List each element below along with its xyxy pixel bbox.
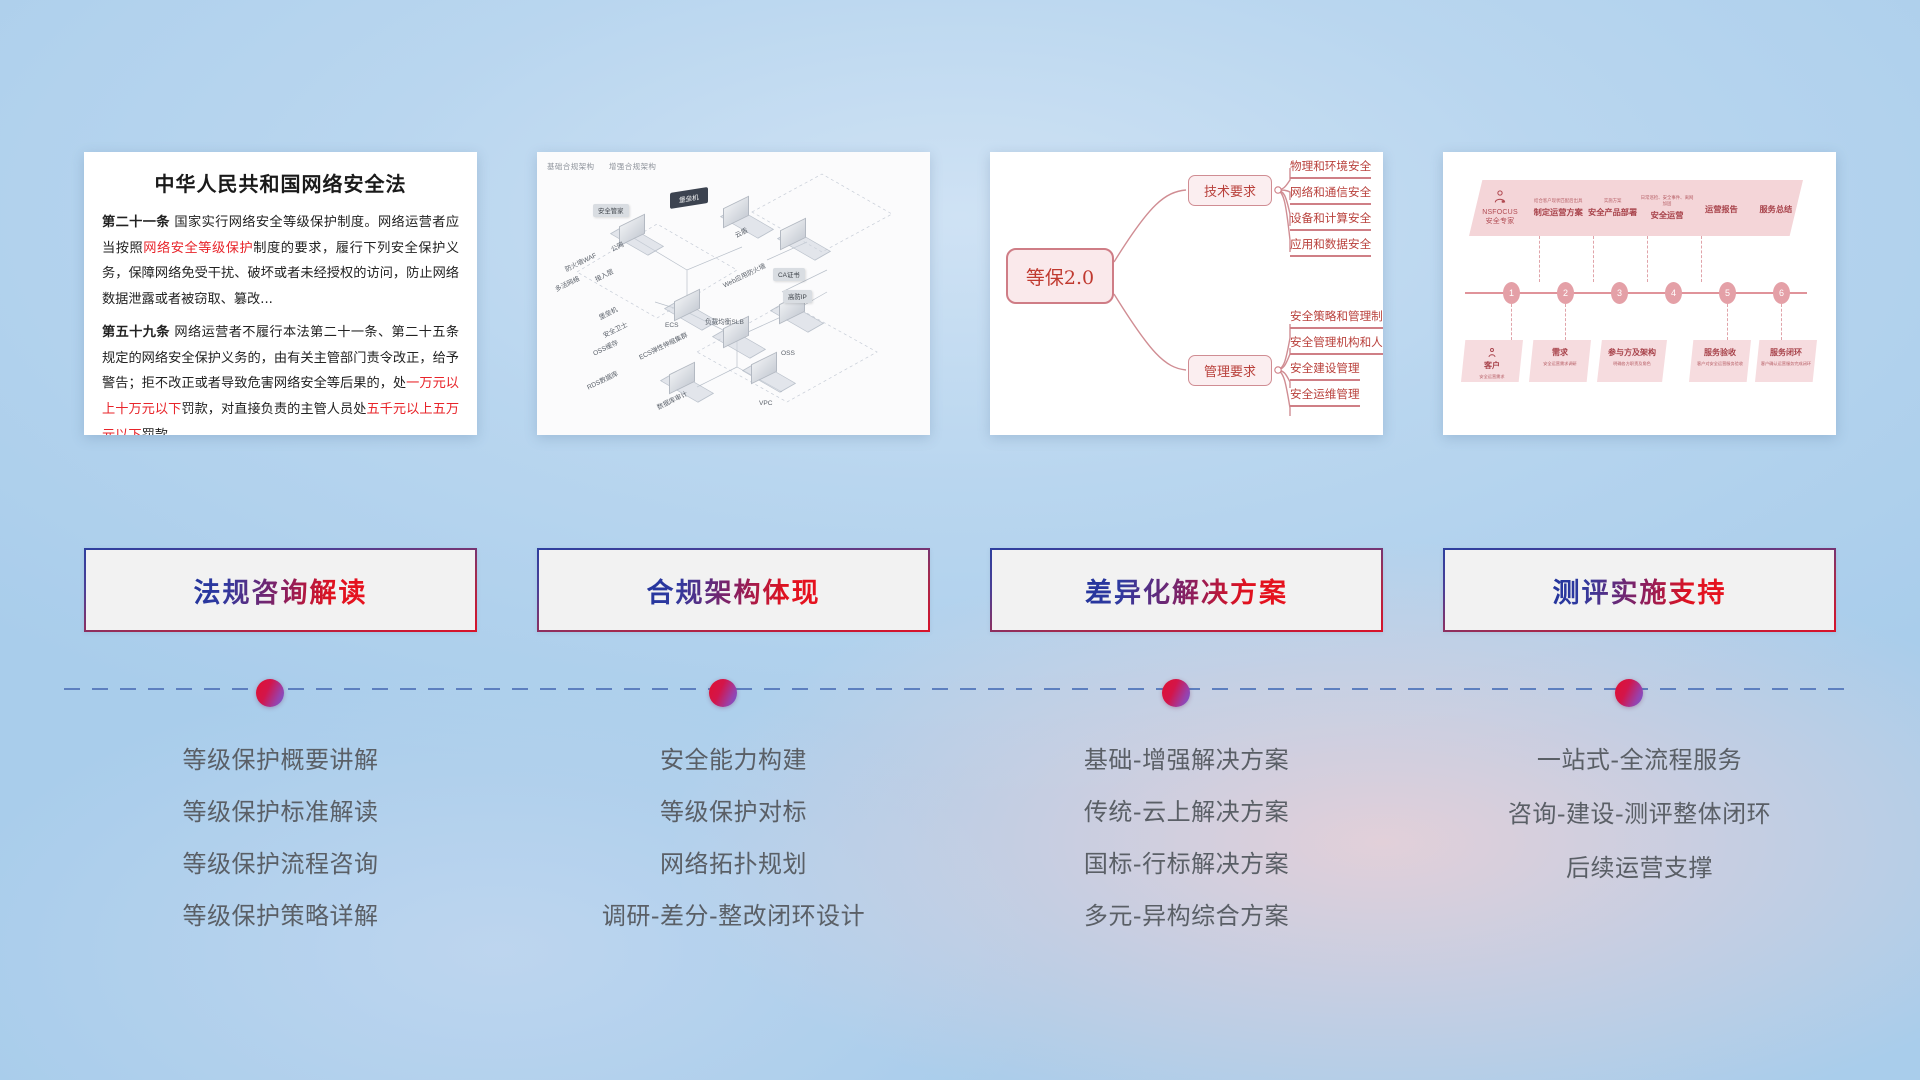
mindmap-leaf-tech-0[interactable]: 物理和环境安全 bbox=[1290, 158, 1371, 179]
mindmap-leaf-mgmt-2[interactable]: 安全建设管理 bbox=[1290, 360, 1360, 381]
law-article-59-post: 罚款。 bbox=[142, 428, 182, 435]
nsfocus-logo: NSFOCUS 安全专家 bbox=[1469, 189, 1531, 226]
expert-person-icon bbox=[1492, 189, 1508, 205]
nsfocus-dash-connector bbox=[1781, 304, 1782, 340]
nsfocus-step-number-4[interactable]: 4 bbox=[1665, 282, 1682, 304]
service-list-3: 一站式-全流程服务 咨询-建设-测评整体闭环 后续运营支撑 bbox=[1443, 740, 1836, 956]
nsfocus-dash-connector bbox=[1511, 304, 1512, 340]
list-item: 等级保护标准解读 bbox=[84, 800, 477, 824]
nsfocus-banner-step-0-sub: 结合客户现状匹配后出具 bbox=[1531, 198, 1585, 204]
mindmap-leaf-tech-2[interactable]: 设备和计算安全 bbox=[1290, 210, 1371, 231]
nsfocus-dash-connector bbox=[1727, 304, 1728, 340]
timeline-dot-0[interactable] bbox=[256, 679, 284, 707]
card-cloud-architecture[interactable]: 基础合规架构 增强合规架构 bbox=[537, 152, 930, 435]
section-header-0-label: 法规咨询解读 bbox=[194, 571, 368, 610]
law-article-59-mid: 罚款，对直接负责的主管人员处 bbox=[181, 402, 366, 417]
law-title: 中华人民共和国网络安全法 bbox=[102, 168, 459, 197]
law-article-21: 第二十一条 国家实行网络安全等级保护制度。网络运营者应当按照网络安全等级保护制度… bbox=[102, 210, 459, 313]
architecture-label-15: OSS bbox=[781, 350, 795, 357]
architecture-label-3: 安全管家 bbox=[593, 204, 629, 217]
mindmap-leaf-mgmt-0[interactable]: 安全策略和管理制度 bbox=[1290, 308, 1383, 329]
mindmap-leaf-mgmt-1[interactable]: 安全管理机构和人员 bbox=[1290, 334, 1383, 355]
list-item: 多元-异构综合方案 bbox=[990, 904, 1383, 928]
list-item: 调研-差分-整改闭环设计 bbox=[537, 904, 930, 928]
law-article-59-label: 第五十九条 bbox=[102, 325, 170, 340]
section-header-3[interactable]: 测评实施支持 bbox=[1443, 548, 1836, 632]
list-item: 基础-增强解决方案 bbox=[990, 748, 1383, 772]
list-item: 网络拓扑规划 bbox=[537, 852, 930, 876]
section-header-2[interactable]: 差异化解决方案 bbox=[990, 548, 1383, 632]
mindmap-branch-technical[interactable]: 技术要求 bbox=[1188, 175, 1272, 206]
nsfocus-bottom-pill-1-title: 需求 bbox=[1529, 347, 1591, 358]
nsfocus-dash-connector bbox=[1565, 304, 1566, 340]
mindmap-leaf-tech-3[interactable]: 应用和数据安全 bbox=[1290, 236, 1371, 257]
architecture-connector-svg bbox=[537, 152, 930, 435]
nsfocus-step-number-6[interactable]: 6 bbox=[1773, 282, 1790, 304]
architecture-label-11: CA证书 bbox=[773, 268, 805, 281]
nsfocus-bottom-pill-3: 服务验收 客户对安全运营服务验收 bbox=[1689, 340, 1751, 382]
nsfocus-dash-connector bbox=[1539, 236, 1540, 282]
list-item: 等级保护概要讲解 bbox=[84, 748, 477, 772]
nsfocus-banner-step-4: 服务总结 bbox=[1749, 201, 1803, 215]
nsfocus-bottom-pill-4: 服务闭环 客户确认运营服务完成闭环 bbox=[1755, 340, 1817, 382]
section-header-1-label: 合规架构体现 bbox=[647, 571, 821, 610]
nsfocus-step-number-2[interactable]: 2 bbox=[1557, 282, 1574, 304]
nsfocus-banner-step-0-title: 制定运营方案 bbox=[1531, 206, 1585, 218]
nsfocus-step-number-3[interactable]: 3 bbox=[1611, 282, 1628, 304]
service-lists-row: 等级保护概要讲解 等级保护标准解读 等级保护流程咨询 等级保护策略详解 安全能力… bbox=[0, 740, 1920, 956]
nsfocus-bottom-pill-1-sub: 安全运营需求调研 bbox=[1529, 361, 1591, 367]
nsfocus-bottom-pill-2: 参与方及架构 明确各方职责及角色 bbox=[1597, 340, 1667, 382]
nsfocus-banner-step-1: 实施方案 安全产品部署 bbox=[1585, 198, 1639, 218]
card-mindmap-dengbao[interactable]: 等保2.0 技术要求 物理和环境安全 网络和通信安全 设备和计算安全 应用和数据… bbox=[990, 152, 1383, 435]
nsfocus-bottom-pill-4-sub: 客户确认运营服务完成闭环 bbox=[1755, 361, 1817, 367]
mindmap-branch-management[interactable]: 管理要求 bbox=[1188, 355, 1272, 386]
nsfocus-dash-connector bbox=[1701, 236, 1702, 282]
service-list-1: 安全能力构建 等级保护对标 网络拓扑规划 调研-差分-整改闭环设计 bbox=[537, 740, 930, 956]
list-item: 等级保护流程咨询 bbox=[84, 852, 477, 876]
nsfocus-bottom-pill-4-title: 服务闭环 bbox=[1755, 347, 1817, 358]
nsfocus-banner-step-3-title: 运营报告 bbox=[1694, 203, 1748, 215]
law-article-21-highlight: 网络安全等级保护 bbox=[143, 241, 253, 256]
nsfocus-logo-line2: 安全专家 bbox=[1469, 218, 1531, 227]
timeline-dot-3[interactable] bbox=[1615, 679, 1643, 707]
list-item: 一站式-全流程服务 bbox=[1443, 748, 1836, 772]
architecture-label-10: 负载均衡SLB bbox=[705, 316, 744, 326]
mindmap-leaf-tech-1[interactable]: 网络和通信安全 bbox=[1290, 184, 1371, 205]
nsfocus-bottom-pill-0: 客户 安全运营需求 bbox=[1461, 340, 1523, 382]
law-article-21-label: 第二十一条 bbox=[102, 215, 170, 230]
nsfocus-banner-step-3: 运营报告 bbox=[1694, 201, 1748, 215]
nsfocus-bottom-pill-0-title: 客户 bbox=[1461, 360, 1523, 371]
card-nsfocus-service-flow[interactable]: NSFOCUS 安全专家 结合客户现状匹配后出具 制定运营方案 实施方案 安全产… bbox=[1443, 152, 1836, 435]
list-item: 后续运营支撑 bbox=[1443, 856, 1836, 880]
nsfocus-bottom-pill-1: 需求 安全运营需求调研 bbox=[1529, 340, 1591, 382]
timeline-dot-1[interactable] bbox=[709, 679, 737, 707]
nsfocus-banner-step-1-sub: 实施方案 bbox=[1585, 198, 1639, 204]
nsfocus-bottom-pill-3-sub: 客户对安全运营服务验收 bbox=[1689, 361, 1751, 367]
nsfocus-banner: NSFOCUS 安全专家 结合客户现状匹配后出具 制定运营方案 实施方案 安全产… bbox=[1469, 180, 1803, 236]
list-item: 国标-行标解决方案 bbox=[990, 852, 1383, 876]
nsfocus-bottom-pill-3-title: 服务验收 bbox=[1689, 347, 1751, 358]
nsfocus-banner-step-0: 结合客户现状匹配后出具 制定运营方案 bbox=[1531, 198, 1585, 218]
list-item: 安全能力构建 bbox=[537, 748, 930, 772]
preview-cards-row: 中华人民共和国网络安全法 第二十一条 国家实行网络安全等级保护制度。网络运营者应… bbox=[0, 152, 1920, 435]
list-item: 等级保护对标 bbox=[537, 800, 930, 824]
nsfocus-banner-step-2-title: 安全运营 bbox=[1640, 209, 1694, 221]
section-header-1[interactable]: 合规架构体现 bbox=[537, 548, 930, 632]
section-headers-row: 法规咨询解读 合规架构体现 差异化解决方案 测评实施支持 bbox=[0, 548, 1920, 632]
law-article-59: 第五十九条 网络运营者不履行本法第二十一条、第二十五条规定的网络安全保护义务的，… bbox=[102, 320, 459, 435]
mindmap-root-node[interactable]: 等保2.0 bbox=[1006, 248, 1114, 304]
list-item: 传统-云上解决方案 bbox=[990, 800, 1383, 824]
nsfocus-bottom-pill-0-sub: 安全运营需求 bbox=[1461, 374, 1523, 380]
list-item: 咨询-建设-测评整体闭环 bbox=[1443, 802, 1836, 826]
nsfocus-dash-connector bbox=[1593, 236, 1594, 282]
nsfocus-dash-connector bbox=[1647, 236, 1648, 282]
customer-icon bbox=[1486, 347, 1498, 359]
list-item: 等级保护策略详解 bbox=[84, 904, 477, 928]
nsfocus-step-number-5[interactable]: 5 bbox=[1719, 282, 1736, 304]
nsfocus-step-number-1[interactable]: 1 bbox=[1503, 282, 1520, 304]
nsfocus-banner-step-2-sub: 日常巡检、安全事件、离网加固 bbox=[1640, 195, 1694, 207]
architecture-label-9: ECS bbox=[665, 322, 679, 329]
mindmap-leaf-mgmt-3[interactable]: 安全运维管理 bbox=[1290, 386, 1360, 407]
nsfocus-logo-line1: NSFOCUS bbox=[1469, 209, 1531, 218]
nsfocus-bottom-pill-2-sub: 明确各方职责及角色 bbox=[1597, 361, 1667, 367]
service-list-0: 等级保护概要讲解 等级保护标准解读 等级保护流程咨询 等级保护策略详解 bbox=[84, 740, 477, 956]
nsfocus-bottom-pill-2-title: 参与方及架构 bbox=[1597, 347, 1667, 358]
timeline-dot-2[interactable] bbox=[1162, 679, 1190, 707]
architecture-label-12: 高防IP bbox=[783, 290, 812, 303]
nsfocus-banner-step-2: 日常巡检、安全事件、离网加固 安全运营 bbox=[1640, 195, 1694, 221]
section-header-3-label: 测评实施支持 bbox=[1553, 571, 1727, 610]
timeline-dashed-line bbox=[64, 688, 1856, 690]
section-header-0[interactable]: 法规咨询解读 bbox=[84, 548, 477, 632]
architecture-label-18: VPC bbox=[759, 400, 773, 407]
nsfocus-banner-step-4-title: 服务总结 bbox=[1749, 203, 1803, 215]
section-header-2-label: 差异化解决方案 bbox=[1085, 571, 1288, 610]
nsfocus-banner-step-1-title: 安全产品部署 bbox=[1585, 206, 1639, 218]
service-list-2: 基础-增强解决方案 传统-云上解决方案 国标-行标解决方案 多元-异构综合方案 bbox=[990, 740, 1383, 956]
card-cybersecurity-law[interactable]: 中华人民共和国网络安全法 第二十一条 国家实行网络安全等级保护制度。网络运营者应… bbox=[84, 152, 477, 435]
